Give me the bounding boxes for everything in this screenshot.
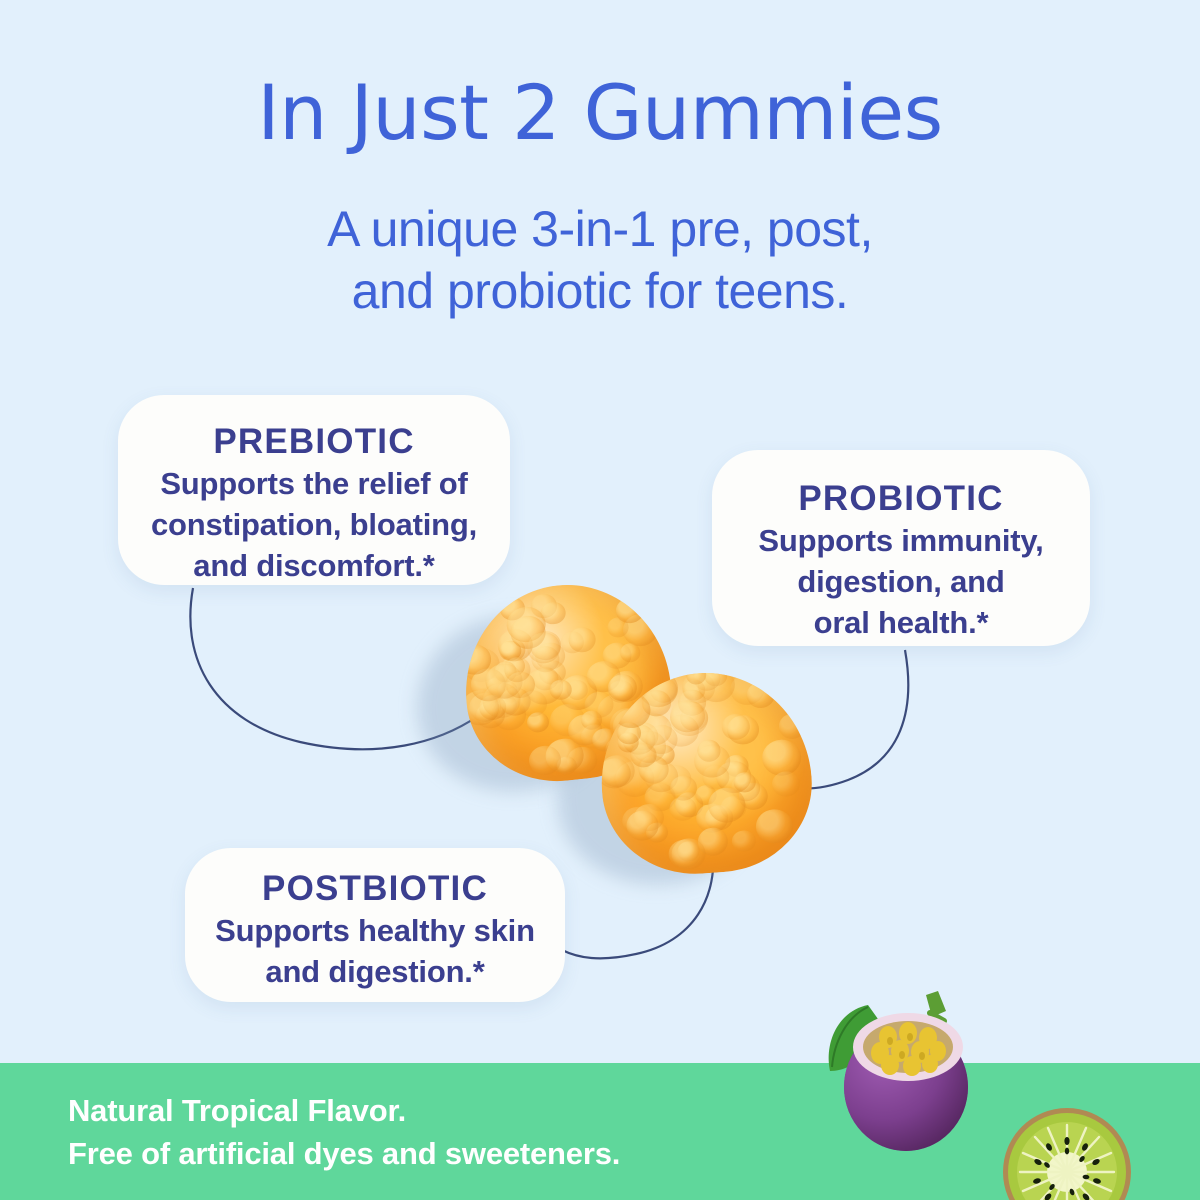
kiwi-icon (1000, 1105, 1135, 1200)
gummy-texture-bump (771, 771, 800, 798)
footer-line-1: Natural Tropical Flavor. (68, 1089, 828, 1132)
gummy-texture-bump (732, 829, 757, 852)
card-body-line-1: Supports the relief of (118, 463, 510, 504)
gummy-texture-bump (707, 787, 746, 824)
subtitle-line-1: A unique 3-in-1 pre, post, (327, 201, 873, 257)
page-subtitle: A unique 3-in-1 pre, post, and probiotic… (0, 198, 1200, 322)
footer-copy: Natural Tropical Flavor. Free of artific… (68, 1089, 828, 1175)
card-body-postbiotic: Supports healthy skin and digestion.* (185, 910, 565, 992)
card-body-line-2: constipation, bloating, (118, 504, 510, 545)
gummy-product-photo (405, 555, 825, 885)
page-title: In Just 2 Gummies (0, 70, 1200, 156)
gummy-texture-bump (778, 713, 806, 739)
gummy-texture-bump (669, 796, 697, 822)
footer-line-2: Free of artificial dyes and sweeteners. (68, 1132, 828, 1175)
card-title-prebiotic: PREBIOTIC (118, 421, 510, 463)
infographic-canvas: In Just 2 Gummies A unique 3-in-1 pre, p… (0, 0, 1200, 1200)
gummy-texture-bump (755, 808, 794, 844)
gummy-texture-bump (746, 681, 776, 709)
card-body-line-1: Supports healthy skin (185, 910, 565, 951)
passionfruit-icon (820, 985, 1000, 1165)
subtitle-line-2: and probiotic for teens. (0, 260, 1200, 322)
card-title-probiotic: PROBIOTIC (712, 478, 1090, 520)
card-body-line-2: and digestion.* (185, 951, 565, 992)
